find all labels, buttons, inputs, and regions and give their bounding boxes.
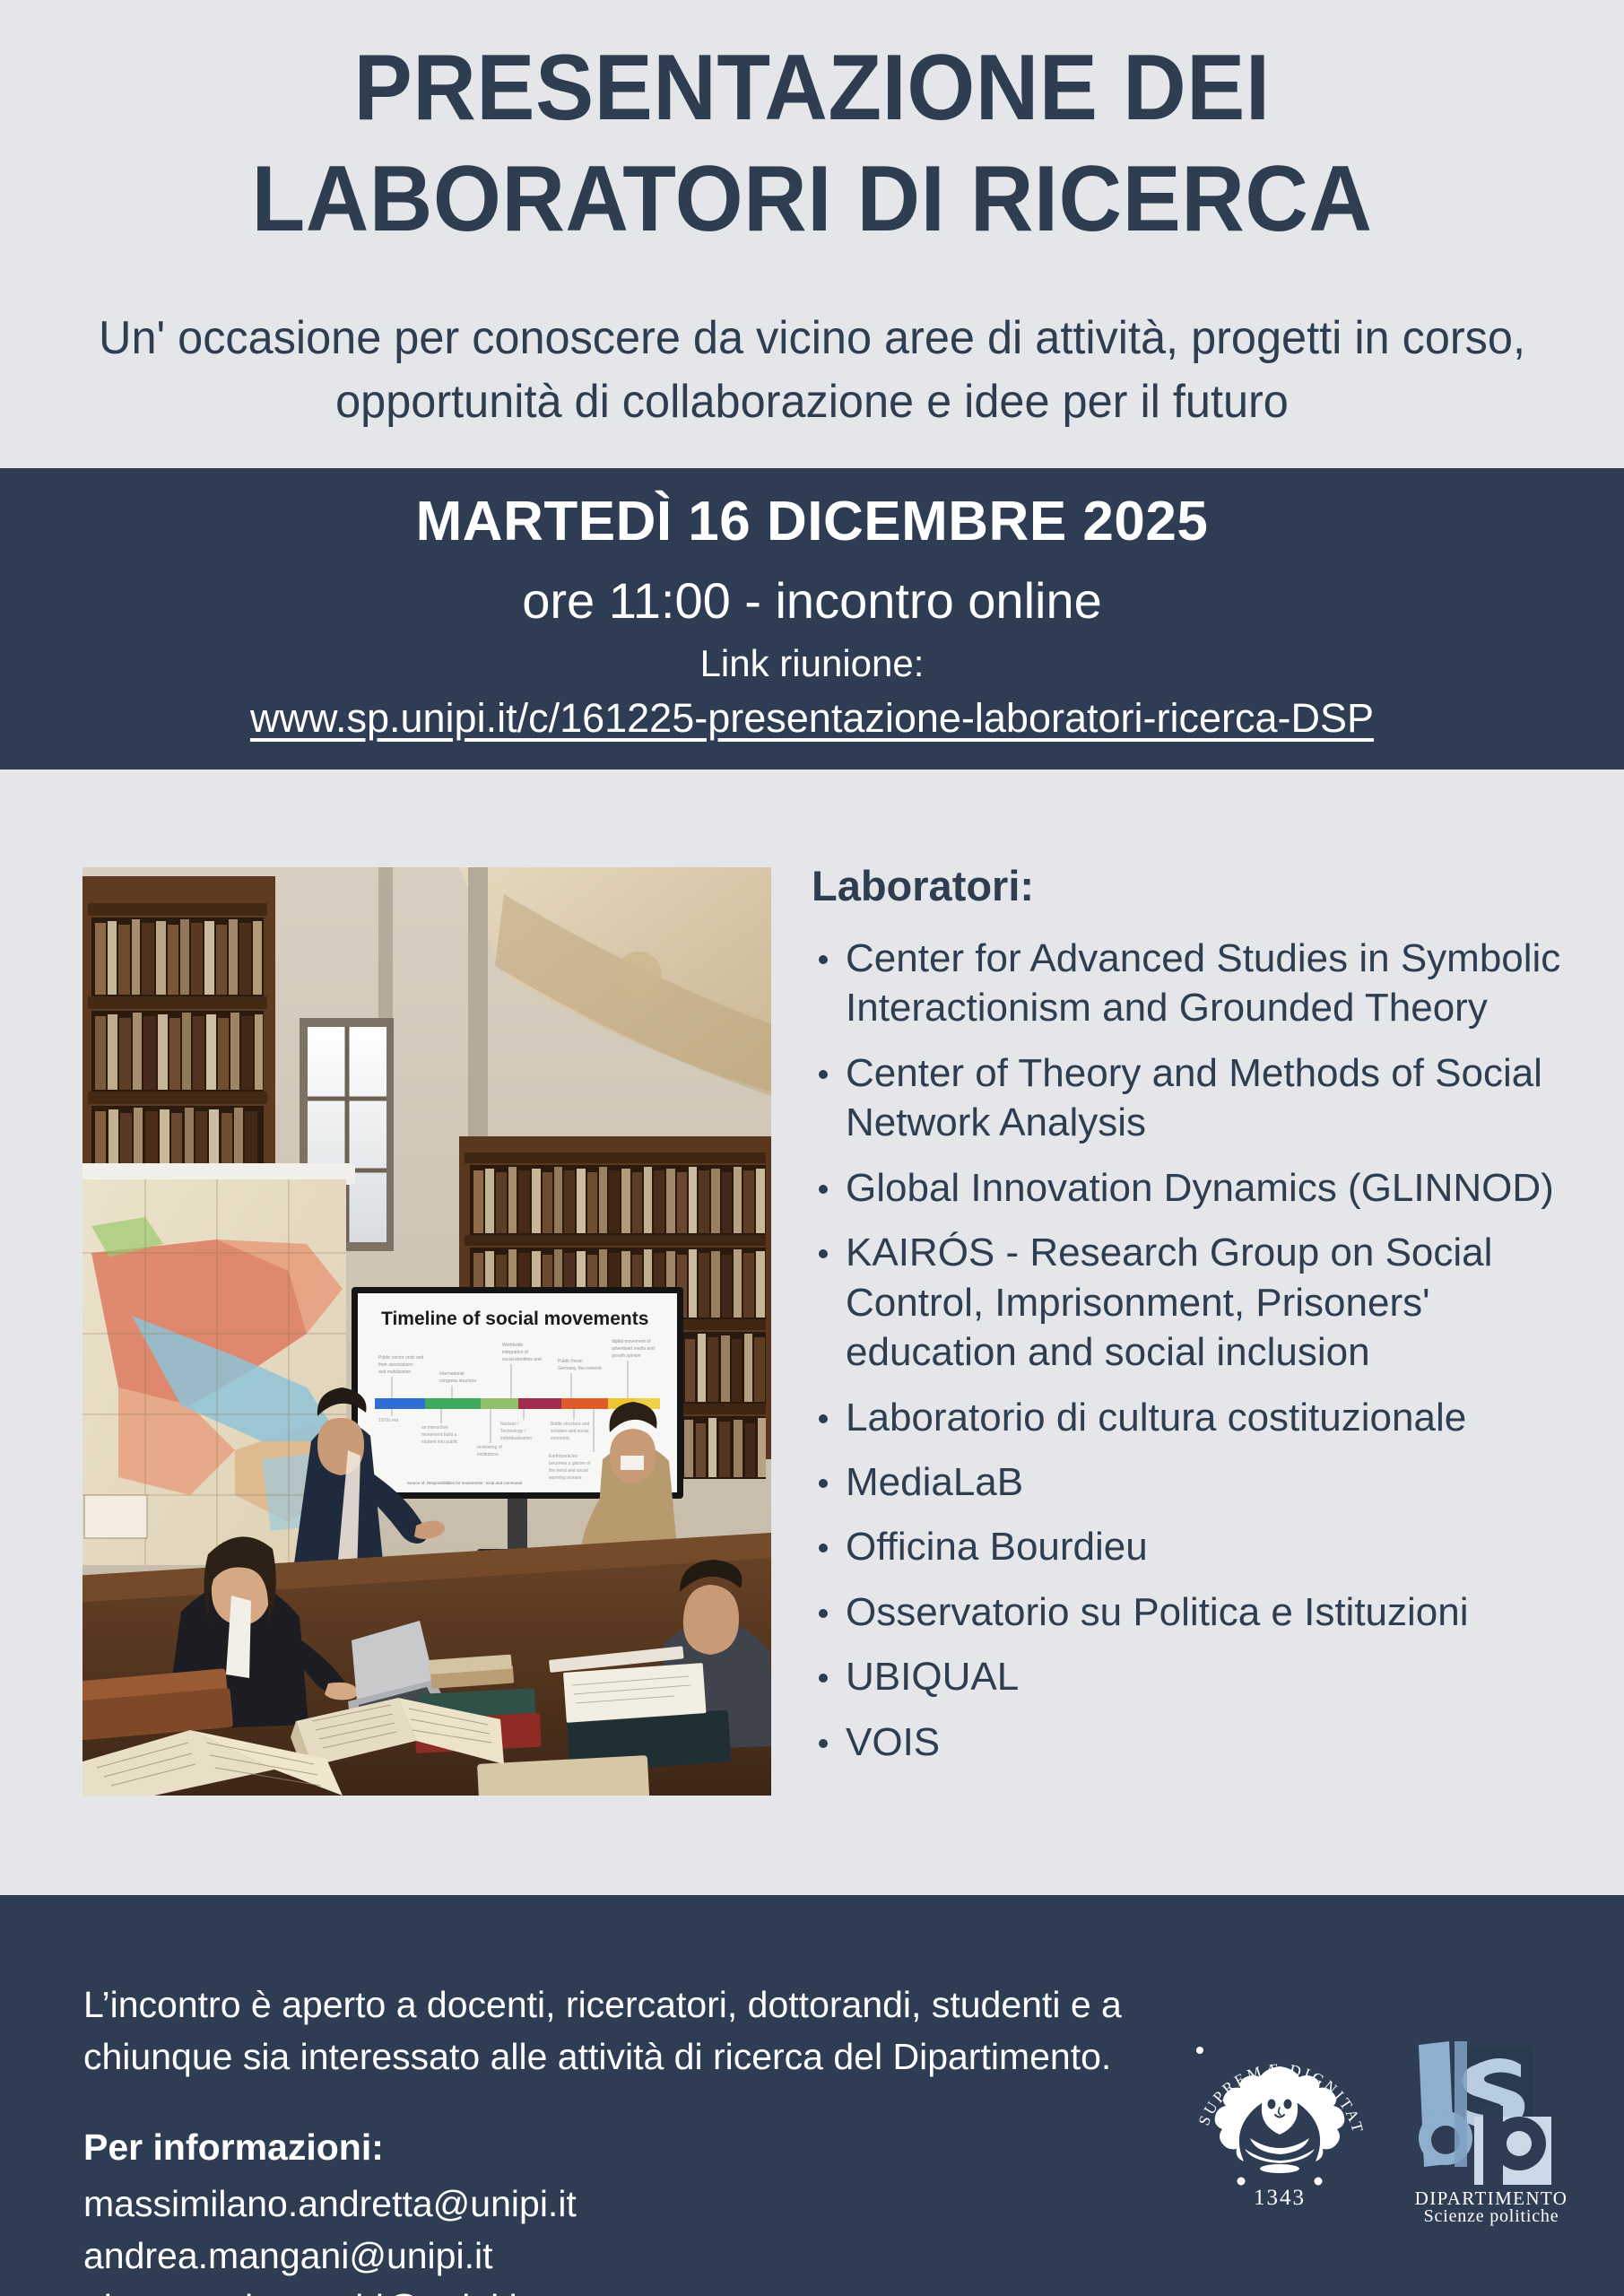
dsp-department-logo: DIPARTIMENTO Scienze politiche	[1406, 2029, 1576, 2226]
svg-text:and mobilisation: and mobilisation	[378, 1370, 411, 1375]
svg-text:the trend and social: the trend and social	[549, 1468, 588, 1474]
list-item: Center for Advanced Studies in Symbolic …	[812, 934, 1583, 1033]
svg-text:Public forum: Public forum	[558, 1359, 583, 1364]
screen-title-text: Timeline of social movements	[381, 1309, 648, 1329]
dsp-logo-line2: Scienze politiche	[1424, 2206, 1559, 2226]
svg-text:integration of: integration of	[502, 1350, 529, 1355]
contact-email[interactable]: massimilano.andretta@unipi.it	[83, 2178, 577, 2230]
labs-heading: Laboratori:	[812, 861, 1583, 910]
svg-text:scholars and social: scholars and social	[551, 1429, 589, 1434]
unipi-seal-icon: IN SUPREMÆ DIGNITATIS 1343	[1185, 2032, 1374, 2221]
title-line-2: LABORATORI DI RICERCA	[48, 152, 1575, 246]
list-item: Laboratorio di cultura costituzionale	[812, 1393, 1583, 1442]
event-photo: Timeline of social movements Public sect…	[83, 867, 771, 1796]
svg-text:1970s era: 1970s era	[378, 1418, 398, 1423]
event-time: ore 11:00 - incontro online	[0, 571, 1624, 630]
meeting-link-url[interactable]: www.sp.unipi.it/c/161225-presentazione-l…	[0, 695, 1624, 742]
poster: PRESENTAZIONE DEI LABORATORI DI RICERCA …	[0, 0, 1624, 2296]
page-title: PRESENTAZIONE DEI LABORATORI DI RICERCA	[48, 41, 1575, 246]
svg-text:individualisation: individualisation	[500, 1436, 533, 1441]
footer-info-label: Per informazioni:	[83, 2126, 384, 2169]
library-scene-illustration: Timeline of social movements Public sect…	[83, 867, 771, 1796]
svg-text:becomes a glacier of: becomes a glacier of	[549, 1461, 591, 1466]
svg-text:their associations: their associations	[378, 1362, 413, 1368]
svg-text:digital movement of: digital movement of	[612, 1339, 651, 1344]
poster-footer: L’incontro è aperto a docenti, ricercato…	[0, 1895, 1624, 2296]
meeting-link-label: Link riunione:	[0, 642, 1624, 685]
svg-text:growth opinion: growth opinion	[612, 1353, 641, 1359]
page-subtitle: Un' occasione per conoscere da vicino ar…	[59, 307, 1565, 433]
seal-year-text: 1343	[1254, 2186, 1306, 2210]
list-item: Global Innovation Dynamics (GLINNOD)	[812, 1163, 1583, 1213]
svg-text:warming oceans: warming oceans	[549, 1475, 582, 1481]
list-item: Officina Bourdieu	[812, 1522, 1583, 1571]
svg-text:Worldwide: Worldwide	[502, 1343, 523, 1348]
svg-text:institutions: institutions	[477, 1452, 499, 1457]
labs-list: Center for Advanced Studies in Symbolic …	[812, 934, 1583, 1767]
svg-text:revisisting of: revisisting of	[477, 1445, 502, 1450]
contact-email-list: massimilano.andretta@unipi.it andrea.man…	[83, 2178, 577, 2296]
svg-text:an interactive: an interactive	[421, 1425, 448, 1431]
svg-text:advertised media and: advertised media and	[612, 1346, 655, 1352]
poster-header: PRESENTAZIONE DEI LABORATORI DI RICERCA …	[0, 0, 1624, 468]
svg-text:Technology /: Technology /	[500, 1429, 526, 1434]
list-item: Center of Theory and Methods of Social N…	[812, 1048, 1583, 1148]
svg-text:International: International	[439, 1371, 465, 1377]
unipi-seal-logo: IN SUPREMÆ DIGNITATIS 1343	[1185, 2032, 1374, 2221]
contact-email[interactable]: andrea.mangani@unipi.it	[83, 2230, 577, 2282]
svg-text:movement build a: movement build a	[421, 1432, 457, 1438]
svg-text:social identities and: social identities and	[502, 1357, 542, 1362]
svg-text:congress structure: congress structure	[439, 1378, 476, 1384]
svg-text:Earth/particles: Earth/particles	[549, 1454, 578, 1459]
dsp-logo-icon: DIPARTIMENTO Scienze politiche	[1406, 2029, 1576, 2226]
event-date: MARTEDÌ 16 DICEMBRE 2025	[0, 490, 1624, 553]
list-item: VOIS	[812, 1718, 1583, 1767]
svg-text:student into public: student into public	[421, 1439, 458, 1445]
labs-section: Laboratori: Center for Advanced Studies …	[812, 861, 1583, 1782]
list-item: KAIRÓS - Research Group on Social Contro…	[812, 1228, 1583, 1377]
footer-intro-text: L’incontro è aperto a docenti, ricercato…	[83, 1979, 1186, 2083]
contact-email[interactable]: giacomo.demarchi@unipi.it	[83, 2282, 577, 2296]
svg-text:Nuclear /: Nuclear /	[500, 1422, 519, 1427]
list-item: MediaLaB	[812, 1457, 1583, 1507]
event-banner: MARTEDÌ 16 DICEMBRE 2025 ore 11:00 - inc…	[0, 468, 1624, 770]
svg-text:Battle structure and: Battle structure and	[551, 1422, 590, 1427]
list-item: UBIQUAL	[812, 1652, 1583, 1701]
svg-text:economic: economic	[551, 1436, 570, 1441]
svg-text:Source of: Responsibilities fo: Source of: Responsibilities for movement…	[407, 1481, 522, 1485]
svg-text:Public sector units and: Public sector units and	[378, 1355, 424, 1361]
title-line-1: PRESENTAZIONE DEI	[354, 36, 1271, 140]
list-item: Osservatorio su Politica e Istituzioni	[812, 1587, 1583, 1637]
poster-content: Timeline of social movements Public sect…	[0, 770, 1624, 1895]
svg-text:Germany, the network: Germany, the network	[558, 1366, 602, 1371]
